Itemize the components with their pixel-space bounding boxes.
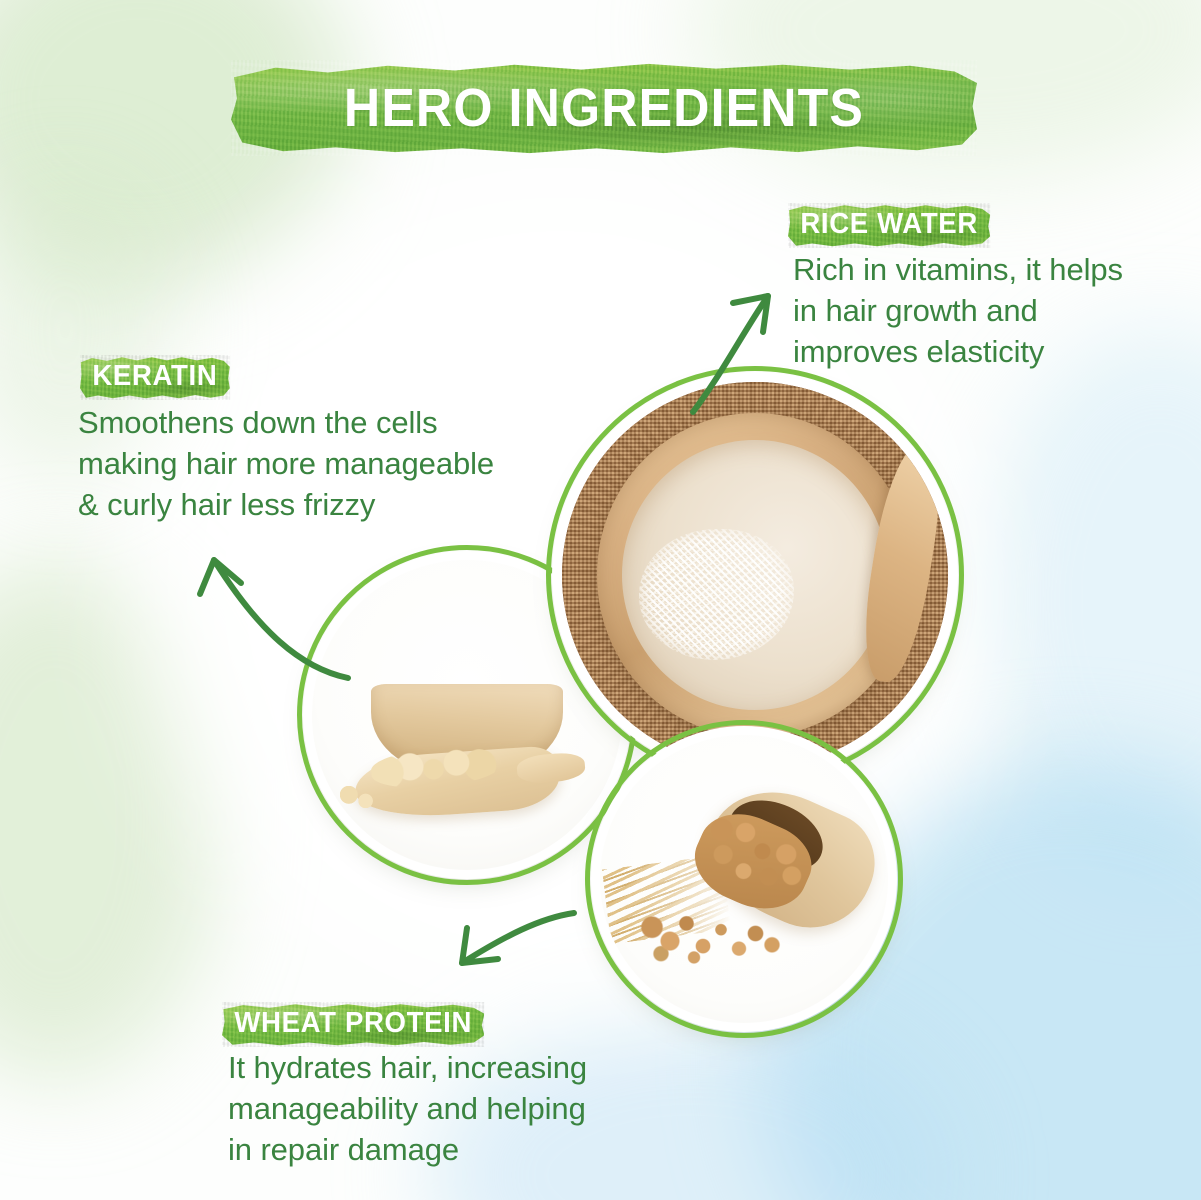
- description-line: making hair more manageable: [78, 444, 494, 485]
- label-keratin: KERATIN: [80, 355, 230, 400]
- arrow-head-keratin: [200, 560, 241, 594]
- description-line: in repair damage: [228, 1130, 587, 1171]
- arrow-head-wheat-protein: [462, 928, 498, 963]
- description-line: Smoothens down the cells: [78, 403, 494, 444]
- description-line: & curly hair less frizzy: [78, 485, 494, 526]
- wash-blue-right: [980, 330, 1201, 870]
- description-line: It hydrates hair, increasing: [228, 1048, 587, 1089]
- hero-ingredients-infographic: HERO INGREDIENTS RICE WATER Rich in vita…: [0, 0, 1201, 1200]
- label-text: KERATIN: [92, 360, 217, 393]
- label-text: RICE WATER: [800, 208, 978, 241]
- soy-loose-beans: [340, 786, 380, 808]
- description-line: in hair growth and: [793, 291, 1123, 332]
- description-line: improves elasticity: [793, 332, 1123, 373]
- page-title: HERO INGREDIENTS: [257, 60, 951, 156]
- label-wheat-protein: WHEAT PROTEIN: [222, 1002, 484, 1047]
- label-text: WHEAT PROTEIN: [234, 1007, 472, 1040]
- wash-green-left: [0, 560, 220, 1080]
- wheat-grains-spilled: [640, 902, 790, 965]
- description-rice-water: Rich in vitamins, it helps in hair growt…: [793, 250, 1123, 373]
- ingredient-image-wheat-protein: [600, 735, 888, 1023]
- arrow-head-rice-water: [733, 296, 768, 332]
- description-line: manageability and helping: [228, 1089, 587, 1130]
- arrow-to-wheat-protein: [462, 913, 574, 963]
- page-title-banner: HERO INGREDIENTS: [231, 60, 977, 156]
- label-rice-water: RICE WATER: [788, 203, 990, 248]
- ingredient-image-rice-water: [562, 382, 948, 768]
- description-line: Rich in vitamins, it helps: [793, 250, 1123, 291]
- description-wheat-protein: It hydrates hair, increasing manageabili…: [228, 1048, 587, 1171]
- description-keratin: Smoothens down the cells making hair mor…: [78, 403, 494, 526]
